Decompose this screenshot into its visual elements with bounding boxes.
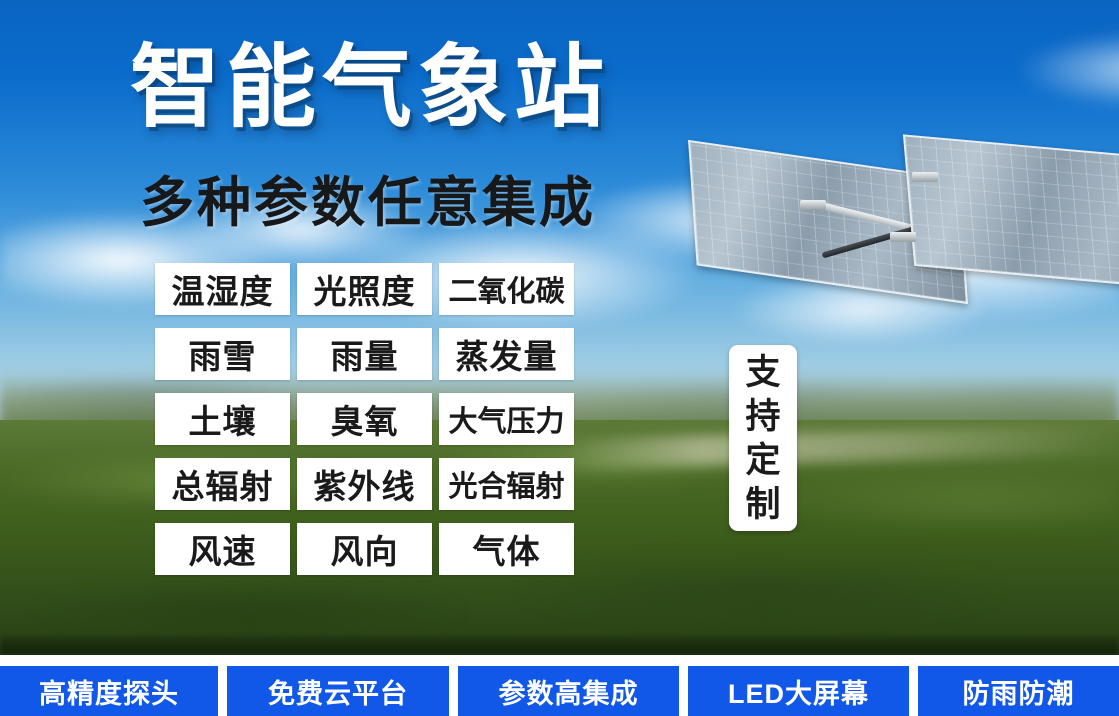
parameter-tag[interactable]: 风速 — [155, 523, 290, 575]
weather-station-photo: ⚡ — [690, 0, 1119, 655]
parameter-tag[interactable]: 风向 — [297, 523, 432, 575]
feature-item-high-parameter-integration[interactable]: 参数高集成 — [458, 666, 679, 716]
parameter-tag[interactable]: 二氧化碳 — [439, 263, 574, 315]
custom-support-badge: 支 持 定 制 — [729, 345, 797, 531]
panel-clamp — [800, 200, 826, 210]
feature-item-high-precision-probe[interactable]: 高精度探头 — [0, 666, 218, 716]
parameter-tag[interactable]: 土壤 — [155, 393, 290, 445]
parameter-tag[interactable]: 雨雪 — [155, 328, 290, 380]
parameter-tag[interactable]: 光合辐射 — [439, 458, 574, 510]
feature-divider — [449, 655, 458, 716]
parameter-tag[interactable]: 紫外线 — [297, 458, 432, 510]
parameter-tag[interactable]: 臭氧 — [297, 393, 432, 445]
parameter-tag[interactable]: 气体 — [439, 523, 574, 575]
feature-divider — [679, 655, 688, 716]
parameter-tag[interactable]: 大气压力 — [439, 393, 574, 445]
page-title: 智能气象站 — [130, 36, 610, 140]
feature-divider — [218, 655, 227, 716]
feature-bar: 高精度探头 免费云平台 参数高集成 LED大屏幕 防雨防潮 — [0, 655, 1119, 716]
custom-badge-char: 支 — [745, 351, 780, 395]
parameter-tag[interactable]: 总辐射 — [155, 458, 290, 510]
parameter-tag[interactable]: 雨量 — [297, 328, 432, 380]
product-banner: ⚡ 智能气象站 多种参数任意集成 温湿度 光照度 二氧化碳 雨雪 雨量 蒸发量 … — [0, 0, 1119, 716]
panel-clamp — [890, 232, 916, 242]
custom-badge-char: 定 — [745, 439, 780, 483]
feature-item-led-large-screen[interactable]: LED大屏幕 — [688, 666, 909, 716]
parameter-tag[interactable]: 温湿度 — [155, 263, 290, 315]
panel-clamp — [912, 172, 938, 182]
feature-item-free-cloud-platform[interactable]: 免费云平台 — [227, 666, 449, 716]
parameter-tag-grid: 温湿度 光照度 二氧化碳 雨雪 雨量 蒸发量 土壤 臭氧 大气压力 总辐射 紫外… — [155, 263, 574, 575]
custom-badge-char: 持 — [745, 395, 780, 439]
feature-divider — [909, 655, 918, 716]
parameter-tag[interactable]: 蒸发量 — [439, 328, 574, 380]
feature-item-rainproof-moistureproof[interactable]: 防雨防潮 — [918, 666, 1119, 716]
custom-badge-char: 制 — [745, 483, 780, 527]
page-subtitle: 多种参数任意集成 — [140, 172, 596, 234]
parameter-tag[interactable]: 光照度 — [297, 263, 432, 315]
